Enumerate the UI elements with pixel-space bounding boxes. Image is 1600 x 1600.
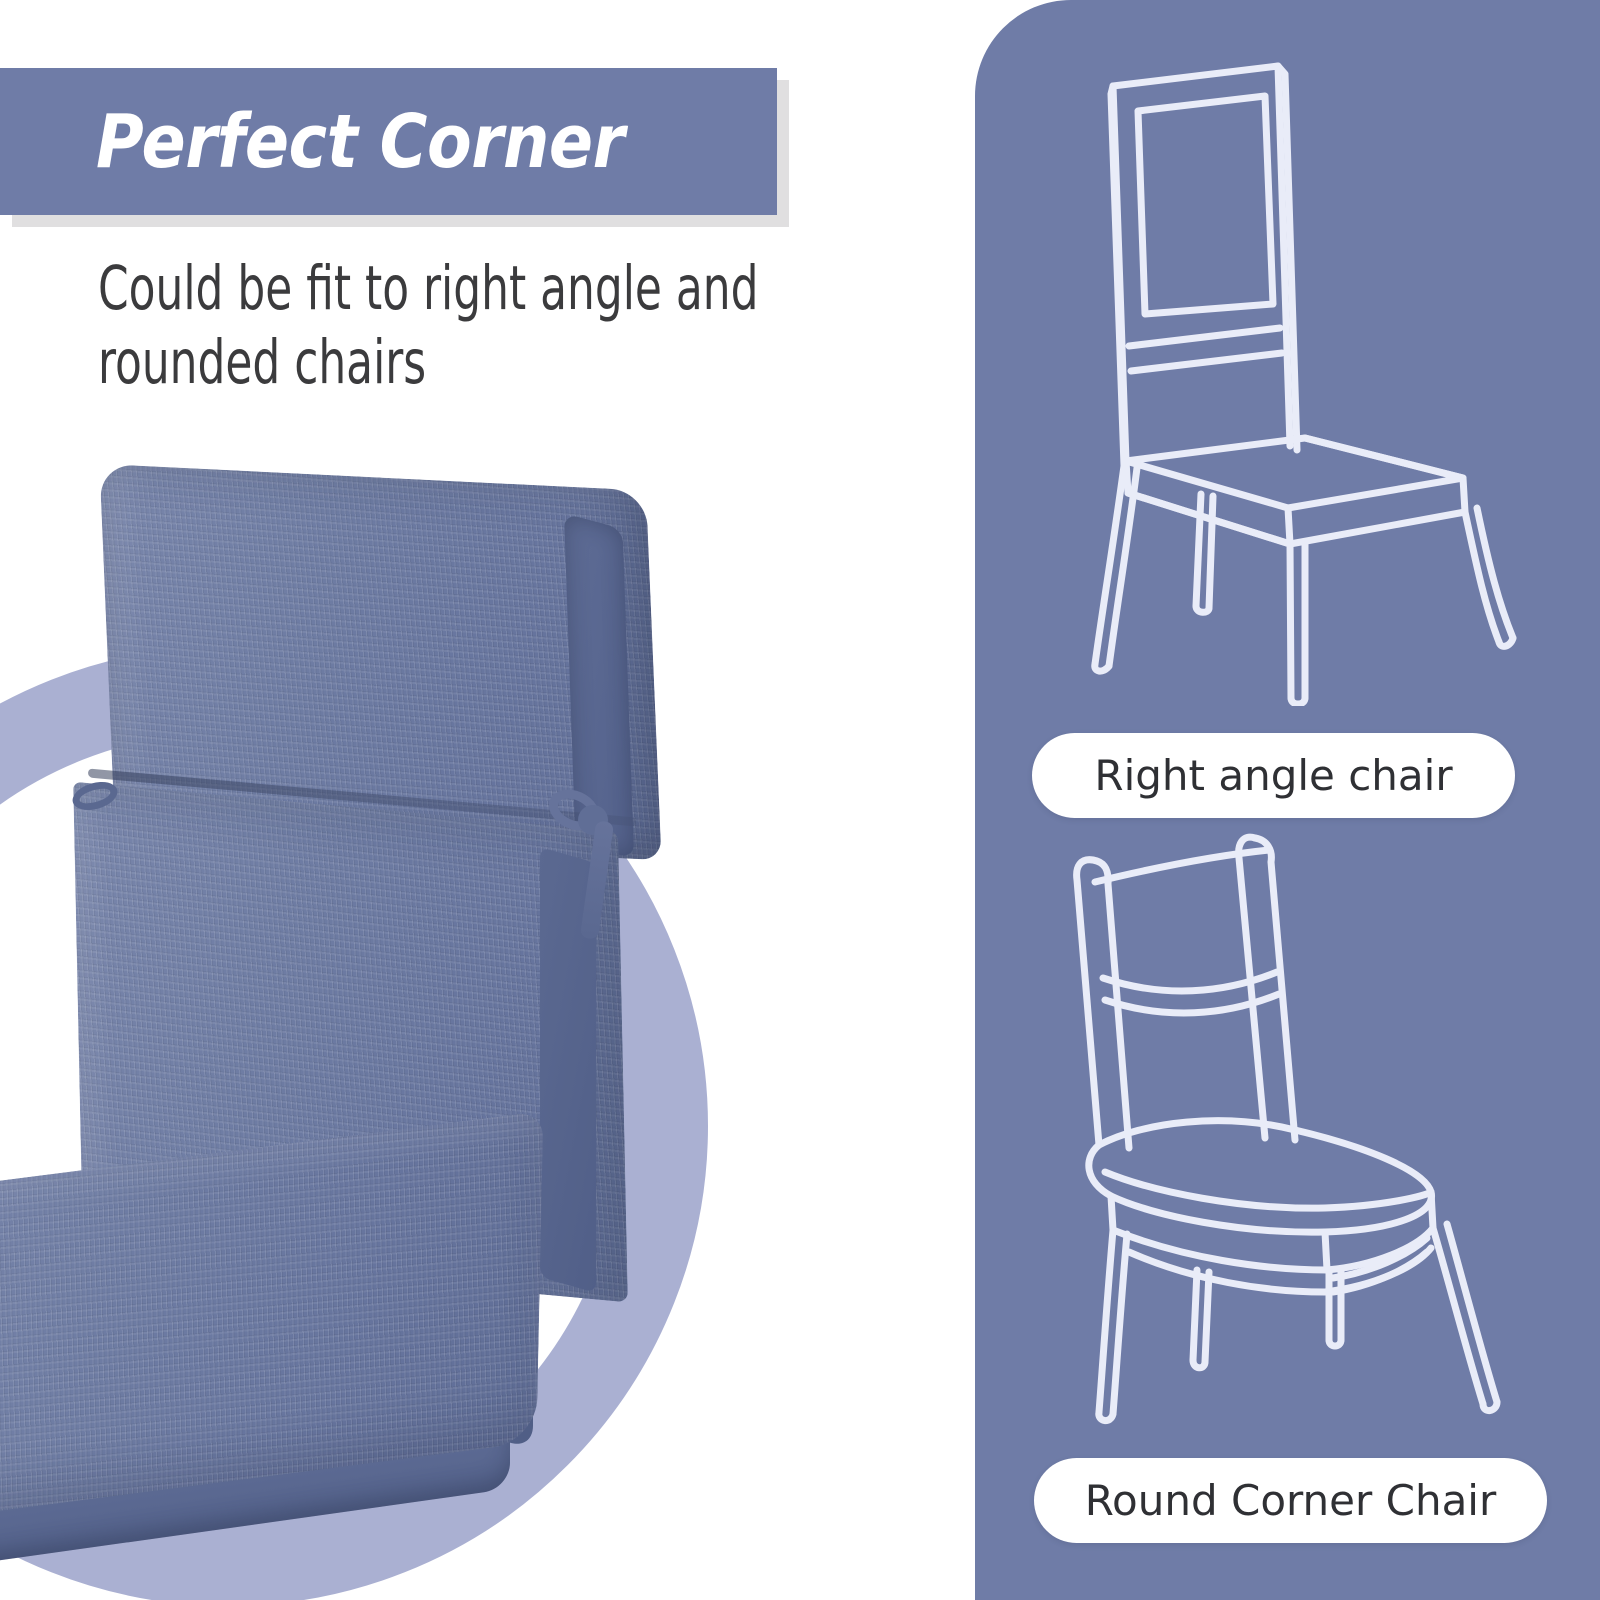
cushion-product-photo — [0, 455, 700, 1565]
pill-right-angle-chair-label: Right angle chair — [1094, 751, 1452, 800]
page-subtitle: Could be fit to right angle and rounded … — [98, 252, 786, 401]
left-content-column: Perfect Corner Could be fit to right ang… — [0, 0, 975, 1600]
chair-types-panel: Right angle chair — [975, 0, 1600, 1600]
title-banner: Perfect Corner — [0, 68, 777, 215]
pill-round-corner-chair-label: Round Corner Chair — [1085, 1476, 1497, 1525]
infographic-page: Perfect Corner Could be fit to right ang… — [0, 0, 1600, 1600]
pill-round-corner-chair: Round Corner Chair — [1034, 1458, 1547, 1543]
round-corner-chair-icon — [1033, 800, 1533, 1430]
right-angle-chair-icon — [1033, 46, 1533, 706]
page-title: Perfect Corner — [96, 99, 624, 185]
